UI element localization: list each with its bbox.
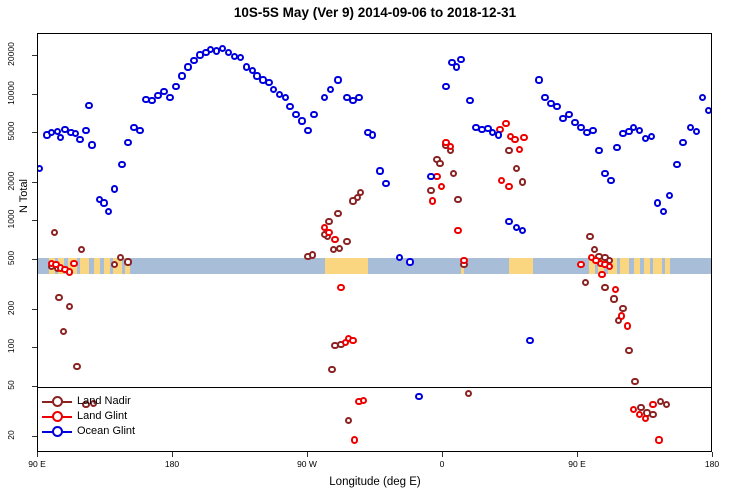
data-point [607,177,614,184]
x-tick-mark [307,452,308,457]
y-tick-label: 20000 [6,34,16,74]
data-point [376,167,383,174]
data-point [577,261,584,268]
x-tick-mark [442,452,443,457]
data-point [613,144,620,151]
data-point [642,415,649,422]
legend-label: Land Glint [77,409,127,424]
data-point [360,397,367,404]
data-point [88,141,95,148]
data-point [327,86,334,93]
data-point [648,133,655,140]
reference-line-50 [38,387,711,388]
data-point [85,102,92,109]
data-point [465,390,472,397]
data-point [265,79,272,86]
legend-item-land-glint[interactable]: Land Glint [42,409,172,424]
data-point [325,229,332,236]
map-landmass [509,258,533,274]
data-point [331,236,338,243]
data-point [511,136,518,143]
legend-marker-icon [52,426,63,437]
data-point [454,227,461,234]
data-point [70,260,77,267]
data-point [649,411,656,418]
data-point [328,366,335,373]
y-tick-label: 20 [6,415,16,455]
map-landmass [665,258,670,274]
legend-marker-icon [52,396,63,407]
data-point [73,363,80,370]
data-point [304,127,311,134]
data-point [442,83,449,90]
data-point [60,328,67,335]
data-point [369,131,376,138]
x-tick-mark [577,452,578,457]
data-point [612,286,619,293]
data-point [586,233,593,240]
data-point [699,94,706,101]
data-point [649,401,656,408]
data-point [66,303,73,310]
map-landmass [653,258,662,274]
y-tick-label: 100 [6,326,16,366]
data-point [498,177,505,184]
data-point [553,103,560,110]
data-point [660,208,667,215]
plot-area [37,33,712,452]
legend-item-land-nadir[interactable]: Land Nadir [42,394,172,409]
y-axis-label: N Total [18,156,30,236]
x-tick-label: 90 E [557,459,597,469]
x-tick-label: 180 [152,459,192,469]
data-point [334,76,341,83]
data-point [349,337,356,344]
x-tick-mark [712,452,713,457]
data-point [51,229,58,236]
x-tick-mark [37,452,38,457]
data-point [118,161,125,168]
data-point [520,134,527,141]
data-point [57,134,64,141]
data-point [438,183,445,190]
data-point [334,210,341,217]
y-tick-label: 1000 [6,199,16,239]
data-point [631,378,638,385]
y-tick-label: 500 [6,238,16,278]
data-point [619,305,626,312]
data-point [298,117,305,124]
data-point [582,279,589,286]
data-point [345,417,352,424]
data-point [505,218,512,225]
data-point [624,322,631,329]
data-point [38,165,43,172]
data-point [705,107,711,114]
chart-legend: Land NadirLand GlintOcean Glint [42,394,172,439]
data-point [601,284,608,291]
data-point [415,393,422,400]
data-point [286,103,293,110]
data-point [427,173,434,180]
x-tick-label: 180 [692,459,732,469]
data-point [519,227,526,234]
data-point [516,146,523,153]
data-point [693,128,700,135]
data-point [429,197,436,204]
data-point [460,257,467,264]
legend-label: Land Nadir [77,394,131,409]
data-point [355,94,362,101]
data-point [666,192,673,199]
data-point [601,170,608,177]
data-point [76,136,83,143]
data-point [100,199,107,206]
data-point [436,160,443,167]
data-point [466,97,473,104]
data-point [310,111,317,118]
data-point [337,284,344,291]
y-tick-label: 50 [6,365,16,405]
data-point [663,401,670,408]
data-point [172,83,179,90]
data-point [454,196,461,203]
data-point [610,295,617,302]
data-point [654,199,661,206]
data-point [357,189,364,196]
data-point [526,337,533,344]
data-point [427,187,434,194]
chart-title: 10S-5S May (Ver 9) 2014-09-06 to 2018-12… [0,5,750,20]
data-point [453,63,460,70]
x-tick-label: 0 [422,459,462,469]
data-point [589,127,596,134]
data-point [519,178,526,185]
data-point [513,165,520,172]
legend-marker-icon [52,411,63,422]
data-point [351,436,358,443]
map-landmass [104,258,110,274]
data-point [55,294,62,301]
chart-root: 10S-5S May (Ver 9) 2014-09-06 to 2018-12… [0,0,750,500]
y-tick-label: 5000 [6,111,16,151]
data-point [450,170,457,177]
map-landmass [620,258,629,274]
data-point [382,180,389,187]
data-point [124,258,131,265]
map-landmass [94,258,100,274]
data-point [598,271,605,278]
data-point [535,76,542,83]
legend-label: Ocean Glint [77,424,135,439]
data-point [673,161,680,168]
data-point [457,56,464,63]
map-landmass [325,258,369,274]
data-point [336,245,343,252]
data-point [495,131,502,138]
data-point [184,63,191,70]
data-point [618,312,625,319]
y-tick-label: 200 [6,288,16,328]
data-point [655,436,662,443]
data-point [309,251,316,258]
data-point [111,261,118,268]
plot-clip [38,34,711,451]
data-point [166,94,173,101]
data-point [282,94,289,101]
data-point [502,120,509,127]
x-tick-label: 90 E [17,459,57,469]
data-point [78,246,85,253]
x-axis-label: Longitude (deg E) [0,476,750,488]
data-point [343,238,350,245]
data-point [595,147,602,154]
y-tick-label: 10000 [6,73,16,113]
data-point [178,72,185,79]
data-point [66,268,73,275]
data-point [342,339,349,346]
data-point [105,208,112,215]
data-point [82,127,89,134]
data-point [636,127,643,134]
legend-item-ocean-glint[interactable]: Ocean Glint [42,424,172,439]
data-point [237,54,244,61]
y-tick-label: 2000 [6,161,16,201]
data-point [406,258,413,265]
x-tick-mark [172,452,173,457]
data-point [565,111,572,118]
data-point [505,183,512,190]
data-point [321,94,328,101]
data-point [625,347,632,354]
data-point [111,185,118,192]
data-point [606,263,613,270]
x-tick-label: 90 W [287,459,327,469]
map-landmass [644,258,650,274]
data-point [505,147,512,154]
map-landmass [80,258,89,274]
data-point [136,127,143,134]
data-point [124,139,131,146]
data-point [679,139,686,146]
map-landmass [634,258,640,274]
